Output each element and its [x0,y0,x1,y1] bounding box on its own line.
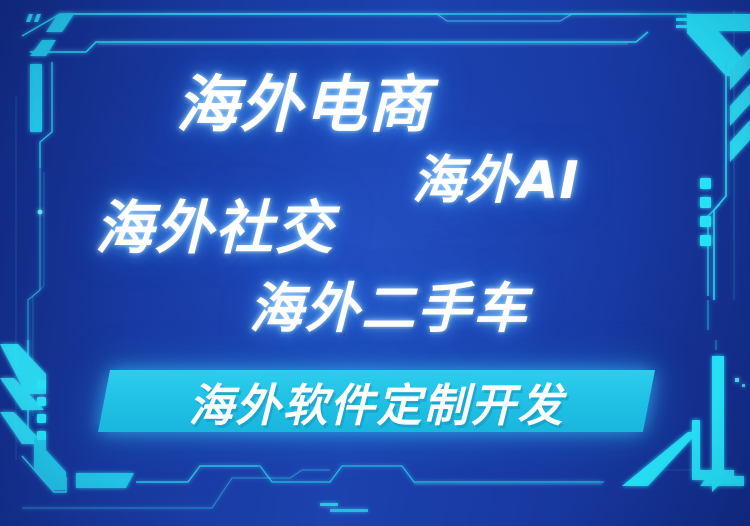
cta-banner-label: 海外软件定制开发 [104,370,649,432]
corner-top-left [26,14,74,420]
frame-bottom-lines [22,466,604,512]
headline-social: 海外社交 [95,199,335,257]
frame-top-lines [22,14,700,52]
poster-canvas: 海外电商 海外AI 海外社交 海外二手车 海外软件定制开发 [0,0,750,526]
dot-column-right [700,178,711,246]
headline-ecommerce: 海外电商 [176,74,432,136]
corner-top-right [676,14,750,300]
headline-ai: 海外AI [412,155,580,207]
headline-used-cars: 海外二手车 [249,282,529,336]
